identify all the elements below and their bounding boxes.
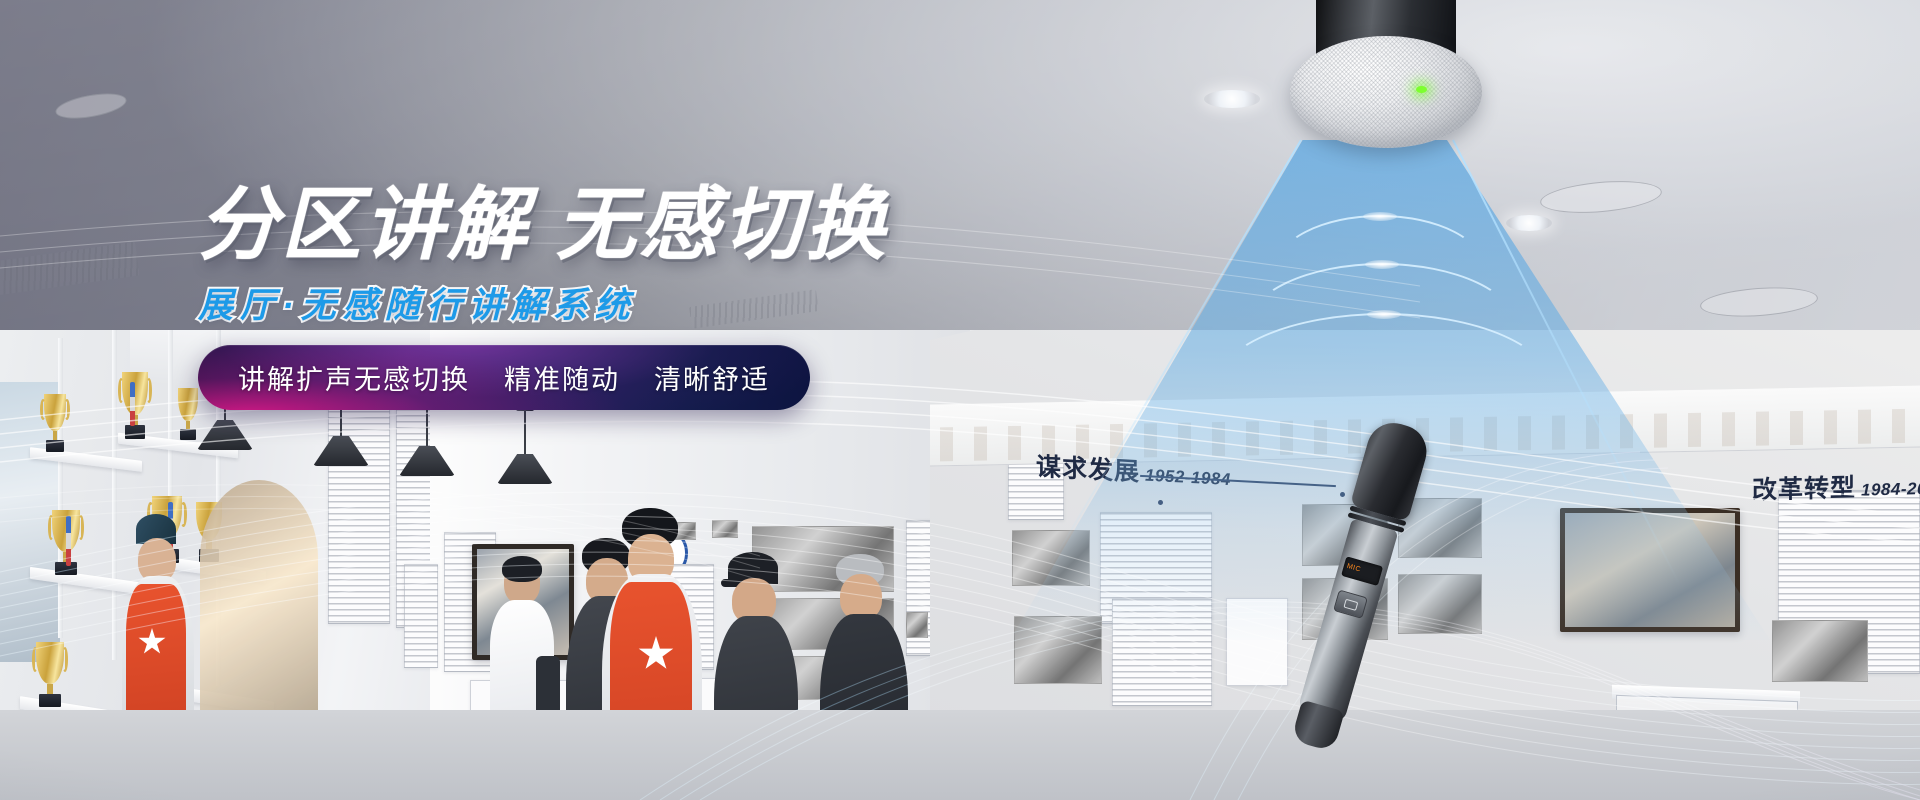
promo-banner: 谋求发展1952-1984 改革转型1984-2010 bbox=[0, 0, 1920, 800]
power-icon bbox=[1343, 599, 1358, 611]
pendant-lamp-cord bbox=[524, 410, 526, 456]
ceiling-speaker bbox=[1290, 0, 1482, 163]
visitor-hair bbox=[502, 556, 542, 582]
title-part-1: 分区讲解 bbox=[198, 180, 530, 269]
exhibit-photo bbox=[1772, 620, 1868, 682]
feature-item-1: 讲解扩声无感切换 bbox=[238, 358, 470, 397]
ceiling-lamp-glow bbox=[1506, 215, 1552, 231]
ceiling-lamp-glow bbox=[1204, 90, 1260, 108]
speaker-status-led bbox=[1416, 86, 1427, 93]
trophy bbox=[36, 642, 64, 710]
trophy bbox=[44, 394, 66, 454]
exhibit-text-panel bbox=[328, 374, 390, 624]
feature-item-3: 清晰舒适 bbox=[654, 358, 770, 397]
exhibit-text-panel bbox=[404, 564, 438, 668]
trophy bbox=[178, 388, 198, 442]
feature-item-2: 精准随动 bbox=[504, 358, 620, 397]
feature-pill: 讲解扩声无感切换 精准随动 清晰舒适 bbox=[198, 345, 810, 410]
shelf-post bbox=[112, 330, 117, 660]
exhibit-photo bbox=[906, 612, 928, 638]
shelf-post bbox=[58, 338, 63, 638]
exhibit-photo bbox=[712, 520, 738, 538]
wall-heading-2: 改革转型1984-2010 bbox=[1752, 465, 1920, 506]
gallery-floor bbox=[0, 710, 1920, 800]
headline-block: 分区讲解无感切换 展厅·无感随行讲解系统 讲解扩声无感切换 精准随动 清晰舒适 bbox=[198, 185, 888, 410]
speaker-grille bbox=[1290, 36, 1482, 148]
wall-heading-2-text: 改革转型 bbox=[1752, 474, 1856, 505]
medal-ribbon bbox=[66, 516, 71, 566]
mic-display-text: MIC bbox=[1346, 563, 1362, 574]
title-part-2: 无感切换 bbox=[556, 180, 888, 269]
trophy bbox=[122, 372, 148, 442]
page-title: 分区讲解无感切换 bbox=[198, 185, 888, 265]
wall-heading-2-years: 1984-2010 bbox=[1861, 478, 1920, 499]
medal-ribbon bbox=[130, 382, 135, 426]
page-subtitle: 展厅·无感随行讲解系统 bbox=[198, 277, 888, 328]
